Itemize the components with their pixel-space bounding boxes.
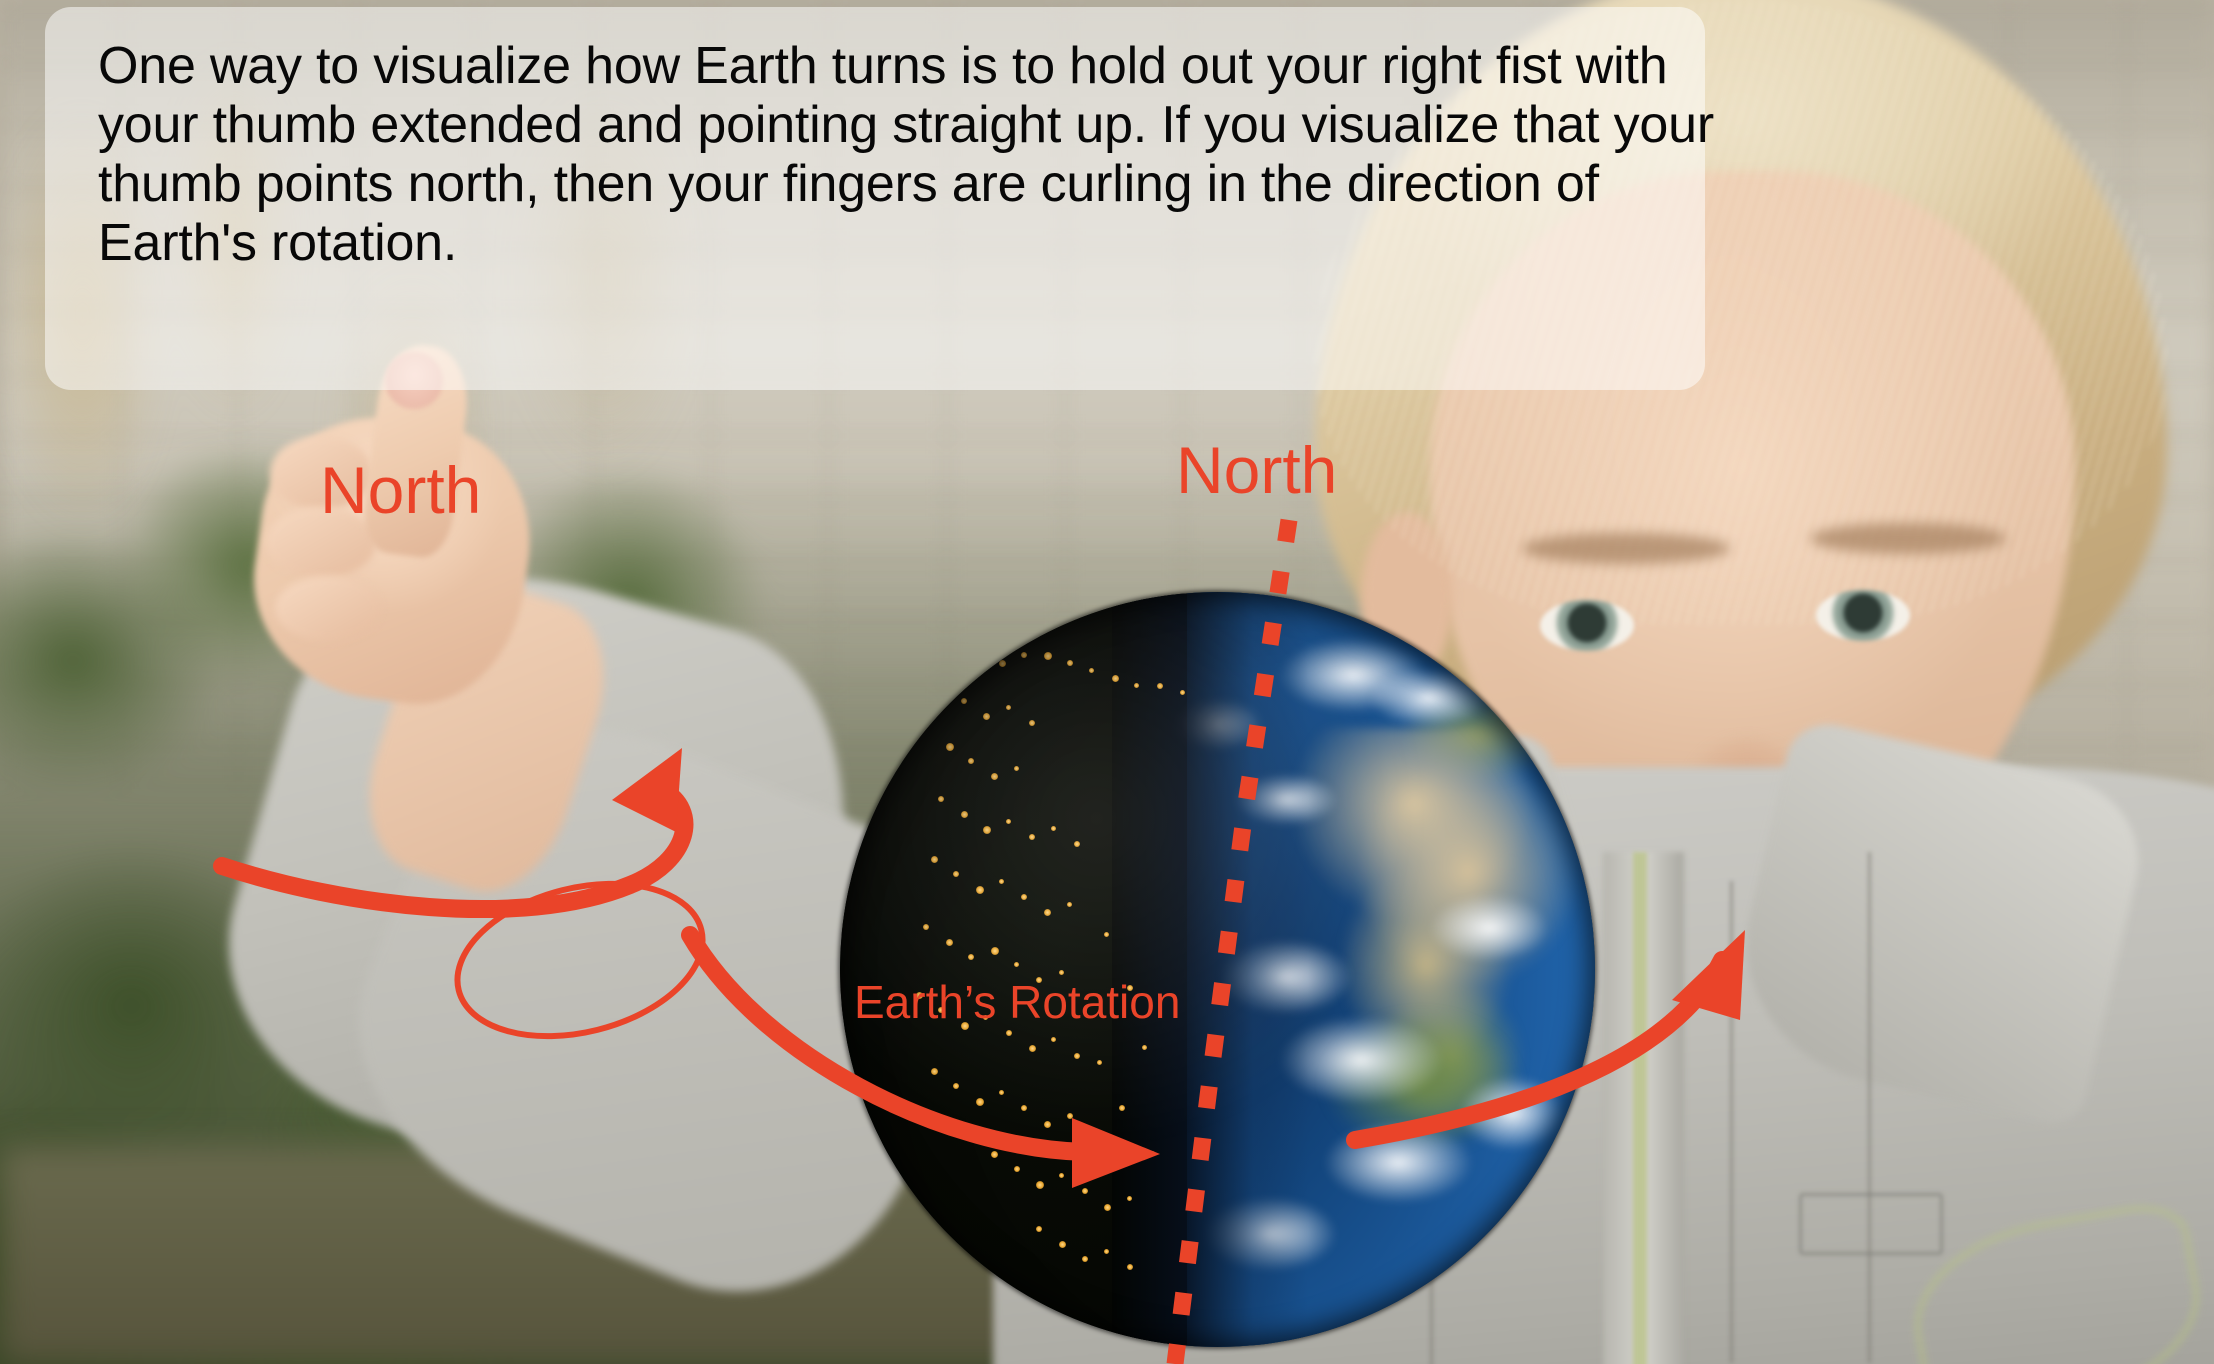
knuckle-2 — [266, 507, 377, 578]
jacket-zipper — [1633, 852, 1647, 1364]
globe-rim-shadow — [840, 592, 1595, 1347]
caption-panel: One way to visualize how Earth turns is … — [45, 7, 1705, 390]
earth-globe — [840, 592, 1595, 1347]
knuckle-1 — [270, 436, 372, 510]
caption-text: One way to visualize how Earth turns is … — [98, 37, 1738, 273]
illustration-canvas: One way to visualize how Earth turns is … — [0, 0, 2214, 1364]
jacket-seam-2 — [1868, 852, 1871, 1363]
jacket-pocket — [1799, 1193, 1943, 1256]
eyebrow-left — [1522, 533, 1729, 564]
knuckle-3 — [275, 576, 381, 641]
jacket-seam-1 — [1730, 881, 1733, 1363]
eye-right — [1816, 590, 1910, 641]
